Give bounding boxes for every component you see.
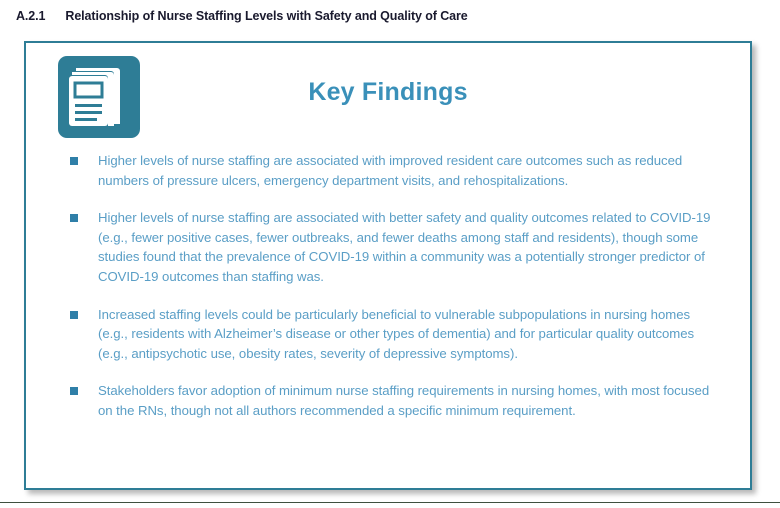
key-findings-title: Key Findings: [26, 78, 750, 107]
list-item: Stakeholders favor adoption of minimum n…: [26, 381, 750, 420]
list-item-text: Higher levels of nurse staffing are asso…: [98, 151, 716, 190]
findings-list: Higher levels of nurse staffing are asso…: [26, 151, 750, 421]
key-findings-callout: Key Findings Higher levels of nurse staf…: [24, 41, 752, 490]
square-bullet-icon: [70, 311, 78, 319]
callout-header: Key Findings: [26, 43, 750, 143]
list-item: Higher levels of nurse staffing are asso…: [26, 151, 750, 190]
square-bullet-icon: [70, 157, 78, 165]
section-number: A.2.1: [16, 9, 45, 23]
list-item: Higher levels of nurse staffing are asso…: [26, 208, 750, 286]
section-title: Relationship of Nurse Staffing Levels wi…: [65, 9, 467, 23]
square-bullet-icon: [70, 214, 78, 222]
list-item-text: Stakeholders favor adoption of minimum n…: [98, 381, 716, 420]
list-item-text: Higher levels of nurse staffing are asso…: [98, 208, 716, 286]
list-item-text: Increased staffing levels could be parti…: [98, 305, 716, 364]
square-bullet-icon: [70, 387, 78, 395]
list-item: Increased staffing levels could be parti…: [26, 305, 750, 364]
page-footer-rule: [0, 502, 780, 503]
section-heading: A.2.1 Relationship of Nurse Staffing Lev…: [16, 9, 468, 23]
